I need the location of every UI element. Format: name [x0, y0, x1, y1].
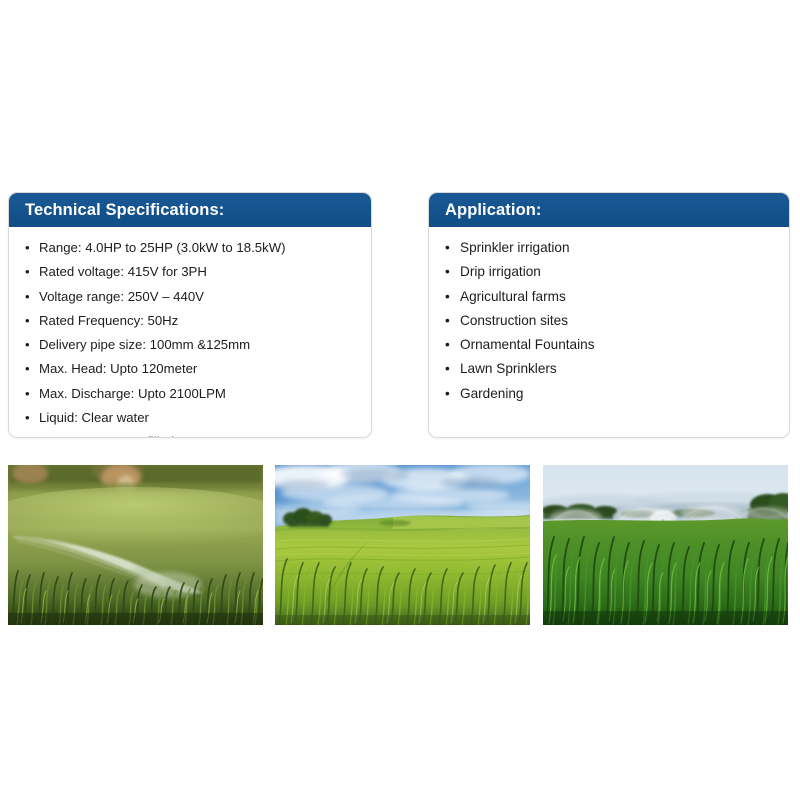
irrigation-sprinklers-photo-graphic	[543, 465, 788, 625]
application-title: Application:	[445, 202, 542, 219]
list-item: Rated Frequency: 50Hz	[25, 309, 359, 333]
list-item: Construction sites	[445, 309, 777, 333]
application-body: Sprinkler irrigation Drip irrigation Agr…	[429, 227, 789, 414]
list-item: Ornamental Fountains	[445, 333, 777, 357]
field-irrigation-sprinklers-photo	[543, 465, 788, 625]
list-item: Max. Head: Upto 120meter	[25, 357, 359, 381]
list-item: Delivery pipe size: 100mm &125mm	[25, 333, 359, 357]
list-item: Drip irrigation	[445, 260, 777, 284]
technical-specifications-title: Technical Specifications:	[25, 202, 224, 219]
list-item: Range: 4.0HP to 25HP (3.0kW to 18.5kW)	[25, 236, 359, 260]
list-item: Rated voltage: 415V for 3PH	[25, 260, 359, 284]
technical-specifications-card: Technical Specifications: Range: 4.0HP t…	[8, 192, 372, 438]
list-item: Liquid: Clear water	[25, 406, 359, 430]
technical-specifications-list: Range: 4.0HP to 25HP (3.0kW to 18.5kW) R…	[25, 236, 359, 438]
page-root: Technical Specifications: Range: 4.0HP t…	[0, 0, 800, 800]
list-item: Gardening	[445, 382, 777, 406]
application-card: Application: Sprinkler irrigation Drip i…	[428, 192, 790, 438]
green-field-photo-graphic	[275, 465, 530, 625]
list-item: Max. Discharge: Upto 2100LPM	[25, 382, 359, 406]
application-header: Application:	[429, 193, 789, 227]
green-crop-field-blue-sky-photo	[275, 465, 530, 625]
technical-specifications-body: Range: 4.0HP to 25HP (3.0kW to 18.5kW) R…	[9, 227, 371, 438]
application-list: Sprinkler irrigation Drip irrigation Agr…	[445, 236, 777, 406]
lawn-sprinkler-spraying-grass-photo	[8, 465, 263, 625]
list-item: Sprinkler irrigation	[445, 236, 777, 260]
list-item: Voltage range: 250V – 440V	[25, 285, 359, 309]
list-item: Lawn Sprinklers	[445, 357, 777, 381]
list-item: Motor type: Water filled motor	[25, 430, 359, 438]
technical-specifications-header: Technical Specifications:	[9, 193, 371, 227]
lawn-sprinkler-photo-graphic	[8, 465, 263, 625]
list-item: Agricultural farms	[445, 285, 777, 309]
